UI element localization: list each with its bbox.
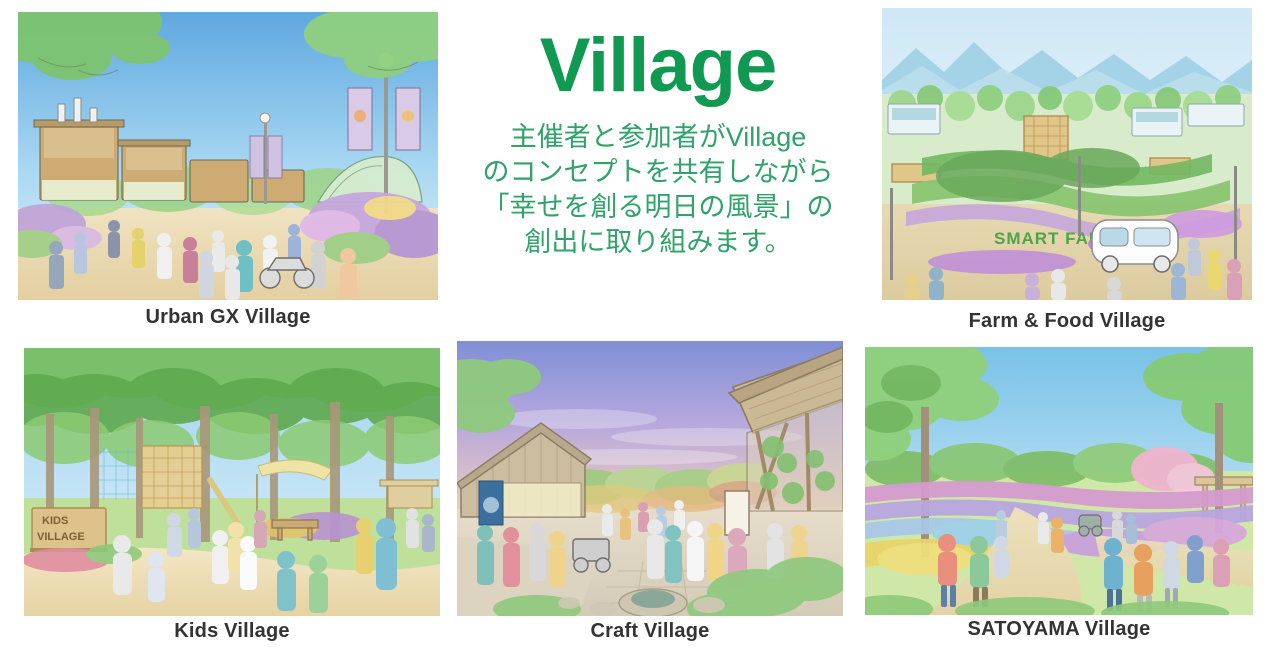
illustration-craft-village xyxy=(457,341,843,616)
svg-text:VILLAGE: VILLAGE xyxy=(37,531,85,543)
hero-description-line-4: 創出に取り組みます。 xyxy=(452,225,864,260)
card-craft-village: Craft Village xyxy=(457,341,843,616)
caption-kids-village: Kids Village xyxy=(24,620,440,643)
caption-satoyama-village: SATOYAMA Village xyxy=(865,618,1253,641)
hero-text-block: Village 主催者と参加者がVillage のコンセプトを共有しながら 「幸… xyxy=(452,14,864,314)
hero-description-line-1: 主催者と参加者がVillage xyxy=(452,120,864,155)
kids-village-sign: KIDS VILLAGE xyxy=(30,508,108,552)
caption-craft-village: Craft Village xyxy=(457,620,843,643)
hero-description-line-3: 「幸せを創る明日の風景」の xyxy=(452,190,864,225)
village-concept-panel: Urban GX Village Village 主催者と参加者がVillage… xyxy=(0,0,1280,670)
illustration-urban-gx-village xyxy=(18,12,438,300)
card-farm-food-village: SMART FARM xyxy=(882,8,1252,300)
caption-farm-food-village: Farm & Food Village xyxy=(882,310,1252,333)
hero-description: 主催者と参加者がVillage のコンセプトを共有しながら 「幸せを創る明日の風… xyxy=(452,120,864,260)
caption-urban-gx-village: Urban GX Village xyxy=(18,306,438,329)
illustration-farm-food-village: SMART FARM xyxy=(882,8,1252,300)
card-urban-gx-village: Urban GX Village xyxy=(18,12,438,300)
hero-description-line-2: のコンセプトを共有しながら xyxy=(452,155,864,190)
shuttle-bus xyxy=(1092,220,1178,272)
card-kids-village: KIDS VILLAGE xyxy=(24,348,440,616)
svg-text:KIDS: KIDS xyxy=(42,515,68,527)
card-satoyama-village: SATOYAMA Village xyxy=(865,347,1253,615)
illustration-kids-village: KIDS VILLAGE xyxy=(24,348,440,616)
illustration-satoyama-village xyxy=(865,347,1253,615)
page-title: Village xyxy=(452,14,864,104)
